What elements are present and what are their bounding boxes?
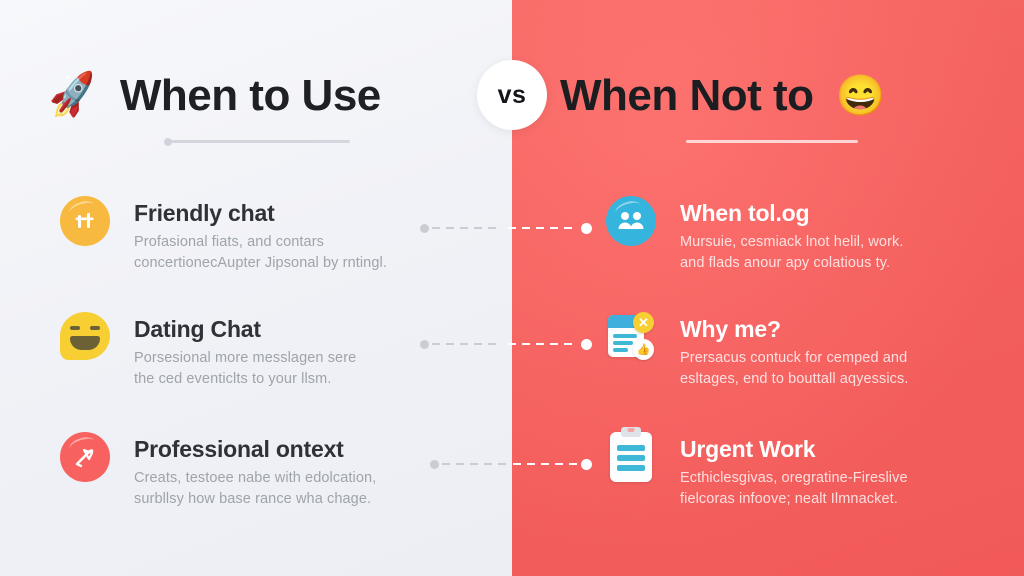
document-line bbox=[613, 334, 637, 338]
document-blocked-icon: ✕ 👍 bbox=[604, 312, 658, 370]
list-item: Professional ontext Creats, testoee nabe… bbox=[58, 432, 428, 511]
people-glyph bbox=[616, 209, 646, 233]
bubble-eye-right bbox=[90, 326, 100, 330]
list-item-text: Friendly chat Profasional fiats, and con… bbox=[134, 196, 428, 275]
list-item-description-line: Creats, testoee nabe with edolcation, bbox=[134, 468, 428, 489]
list-item-description-line: fielcoras infoove; nealt Ilmnacket. bbox=[680, 489, 974, 510]
friendly-chat-icon bbox=[58, 196, 112, 254]
left-header-title: When to Use bbox=[120, 71, 381, 121]
list-item-text: Urgent Work Ecthiclesgivas, oregratine-F… bbox=[680, 432, 974, 511]
connector-dot-left bbox=[420, 224, 429, 233]
right-header: When Not to 😄 bbox=[560, 56, 990, 136]
clipboard-line bbox=[617, 445, 645, 451]
connector-dot-left bbox=[430, 460, 439, 469]
connector-dot-right bbox=[581, 223, 592, 234]
list-item-description-line: surbllsy how base rance wha chage. bbox=[134, 489, 428, 510]
list-item-title: Why me? bbox=[680, 316, 974, 343]
list-item-description: Creats, testoee nabe with edolcation, su… bbox=[134, 468, 428, 511]
document-line bbox=[613, 341, 633, 345]
rocket-emoji: 🚀 bbox=[45, 73, 100, 120]
people-group-icon bbox=[604, 196, 658, 254]
connector-line-right bbox=[508, 227, 578, 229]
connector-row-1 bbox=[420, 222, 592, 234]
connector-line-left bbox=[442, 463, 507, 465]
connector-row-3 bbox=[430, 458, 592, 470]
list-item-description: Profasional fiats, and contars concertio… bbox=[134, 232, 428, 275]
clipboard-shape bbox=[610, 432, 652, 482]
list-item-description-line: esltages, end to bouttall aqyessics. bbox=[680, 369, 974, 390]
comparison-infographic: 🚀 When to Use When Not to 😄 vs bbox=[0, 0, 1024, 576]
left-header-underline bbox=[168, 140, 350, 143]
list-item-description-line: and flads anour apy colatious ty. bbox=[680, 253, 974, 274]
connector-line-left bbox=[432, 227, 502, 229]
clipboard-line bbox=[617, 455, 645, 461]
right-header-underline bbox=[686, 140, 858, 143]
list-item-description: Mursuie, cesmiack lnot helil, work. and … bbox=[680, 232, 974, 275]
clipboard-icon bbox=[604, 432, 658, 490]
list-item-text: Professional ontext Creats, testoee nabe… bbox=[134, 432, 428, 511]
list-item-description: Ecthiclesgivas, oregratine-Fireslive fie… bbox=[680, 468, 974, 511]
connector-dot-left bbox=[420, 340, 429, 349]
list-item-description-line: concertionecAupter Jipsonal by rntingl. bbox=[134, 253, 428, 274]
list-item-text: Dating Chat Porsesional more messlagen s… bbox=[134, 312, 428, 391]
grinning-sun-emoji: 😄 bbox=[836, 76, 886, 116]
list-item-description-line: the ced eventiclts to your llsm. bbox=[134, 369, 428, 390]
list-item-description-line: Mursuie, cesmiack lnot helil, work. bbox=[680, 232, 974, 253]
right-header-title: When Not to bbox=[560, 71, 814, 121]
document-line bbox=[613, 348, 628, 352]
list-item: Dating Chat Porsesional more messlagen s… bbox=[58, 312, 428, 391]
connector-dot-right bbox=[581, 339, 592, 350]
connector-line-right bbox=[508, 343, 578, 345]
bubble-eye-left bbox=[70, 326, 80, 330]
left-header: 🚀 When to Use bbox=[48, 56, 478, 136]
list-item-text: Why me? Prersacus contuck for cemped and… bbox=[680, 312, 974, 391]
professional-context-icon bbox=[58, 432, 112, 490]
list-item-description-line: Ecthiclesgivas, oregratine-Fireslive bbox=[680, 468, 974, 489]
tool-glyph bbox=[72, 444, 98, 470]
friendly-chat-glyph bbox=[73, 209, 97, 233]
list-item: Friendly chat Profasional fiats, and con… bbox=[58, 196, 428, 275]
list-item-description: Prersacus contuck for cemped and esltage… bbox=[680, 348, 974, 391]
clipboard-line bbox=[617, 465, 645, 471]
list-item: ✕ 👍 Why me? Prersacus contuck for cemped… bbox=[604, 312, 974, 391]
dating-chat-icon bbox=[58, 312, 112, 370]
connector-line-left bbox=[432, 343, 502, 345]
list-item-title: Friendly chat bbox=[134, 200, 428, 227]
list-item-description-line: Profasional fiats, and contars bbox=[134, 232, 428, 253]
vs-badge: vs bbox=[477, 60, 547, 130]
list-item: When tol.og Mursuie, cesmiack lnot helil… bbox=[604, 196, 974, 275]
list-item-description-line: Porsesional more messlagen sere bbox=[134, 348, 428, 369]
list-item-text: When tol.og Mursuie, cesmiack lnot helil… bbox=[680, 196, 974, 275]
bubble-mouth bbox=[70, 336, 100, 350]
list-item-title: Dating Chat bbox=[134, 316, 428, 343]
clipboard-clip bbox=[621, 427, 641, 437]
connector-line-right bbox=[513, 463, 578, 465]
document-shape: ✕ 👍 bbox=[608, 312, 654, 360]
list-item-title: Professional ontext bbox=[134, 436, 428, 463]
list-item-title: When tol.og bbox=[680, 200, 974, 227]
connector-row-2 bbox=[420, 338, 592, 350]
list-item: Urgent Work Ecthiclesgivas, oregratine-F… bbox=[604, 432, 974, 511]
list-item-title: Urgent Work bbox=[680, 436, 974, 463]
list-item-description: Porsesional more messlagen sere the ced … bbox=[134, 348, 428, 391]
cross-badge-icon: ✕ bbox=[633, 312, 654, 333]
list-item-description-line: Prersacus contuck for cemped and bbox=[680, 348, 974, 369]
thumb-badge-icon: 👍 bbox=[633, 339, 654, 360]
vs-badge-label: vs bbox=[498, 81, 527, 110]
speech-bubble-shape bbox=[60, 312, 110, 360]
connector-dot-right bbox=[581, 459, 592, 470]
